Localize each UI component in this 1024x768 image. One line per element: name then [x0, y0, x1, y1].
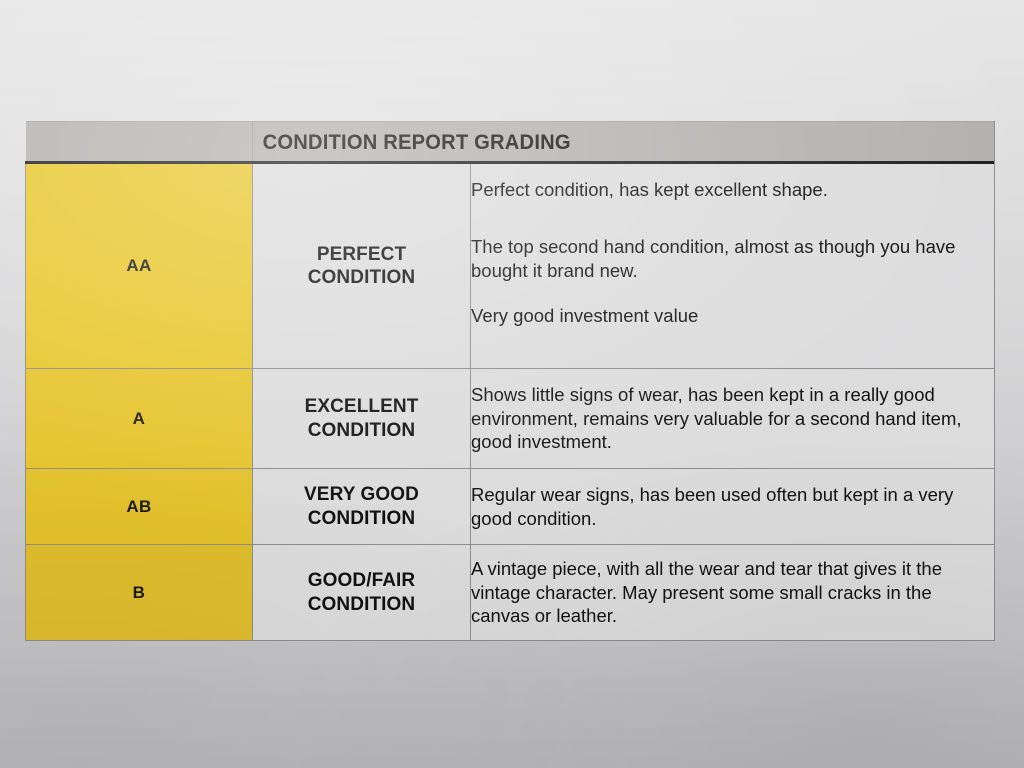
condition-name-line-1: PERFECT: [253, 243, 470, 266]
description-cell-ab: Regular wear signs, has been used often …: [471, 469, 995, 545]
grade-label: A: [133, 409, 146, 428]
condition-name-cell-aa: PERFECT CONDITION: [253, 164, 471, 369]
table-header-row: CONDITION REPORT GRADING: [26, 122, 995, 164]
description-paragraph: Very good investment value: [471, 304, 994, 327]
table-row: A EXCELLENT CONDITION Shows little signs…: [26, 369, 995, 469]
grade-cell-aa: AA: [26, 164, 253, 369]
description-cell-b: A vintage piece, with all the wear and t…: [471, 545, 995, 641]
grade-label: AA: [126, 256, 151, 275]
header-title-cell: CONDITION REPORT GRADING: [253, 122, 995, 164]
condition-name-line-1: EXCELLENT: [253, 395, 470, 418]
condition-name-line-2: CONDITION: [253, 266, 470, 289]
condition-report-table-container: CONDITION REPORT GRADING AA PERFECT COND…: [25, 121, 994, 641]
condition-grading-table: CONDITION REPORT GRADING AA PERFECT COND…: [25, 121, 995, 641]
grade-label: AB: [126, 497, 151, 516]
table-header: CONDITION REPORT GRADING: [26, 122, 995, 164]
condition-name-line-2: CONDITION: [253, 419, 470, 442]
description-paragraph: Regular wear signs, has been used often …: [471, 483, 994, 530]
condition-name-cell-ab: VERY GOOD CONDITION: [253, 469, 471, 545]
grade-cell-a: A: [26, 369, 253, 469]
description-paragraph: Perfect condition, has kept excellent sh…: [471, 178, 994, 201]
page-title: CONDITION REPORT GRADING: [253, 131, 571, 155]
description-cell-a: Shows little signs of wear, has been kep…: [471, 369, 995, 469]
condition-name-line-1: GOOD/FAIR: [253, 569, 470, 592]
grade-label: B: [133, 583, 146, 602]
table-row: B GOOD/FAIR CONDITION A vintage piece, w…: [26, 545, 995, 641]
table-body: AA PERFECT CONDITION Perfect condition, …: [26, 164, 995, 641]
header-spacer-cell: [26, 122, 253, 164]
description-paragraph: The top second hand condition, almost as…: [471, 235, 994, 282]
table-row: AA PERFECT CONDITION Perfect condition, …: [26, 164, 995, 369]
condition-name-line-2: CONDITION: [253, 593, 470, 616]
condition-name-line-1: VERY GOOD: [253, 483, 470, 506]
description-paragraph: A vintage piece, with all the wear and t…: [471, 557, 994, 627]
condition-name-line-2: CONDITION: [253, 507, 470, 530]
paper-shadow-overlay: [0, 638, 1024, 768]
grade-cell-b: B: [26, 545, 253, 641]
condition-name-cell-a: EXCELLENT CONDITION: [253, 369, 471, 469]
grade-cell-ab: AB: [26, 469, 253, 545]
header-underline: [25, 161, 994, 164]
condition-name-cell-b: GOOD/FAIR CONDITION: [253, 545, 471, 641]
description-paragraph: Shows little signs of wear, has been kep…: [471, 383, 994, 453]
description-cell-aa: Perfect condition, has kept excellent sh…: [471, 164, 995, 369]
table-row: AB VERY GOOD CONDITION Regular wear sign…: [26, 469, 995, 545]
